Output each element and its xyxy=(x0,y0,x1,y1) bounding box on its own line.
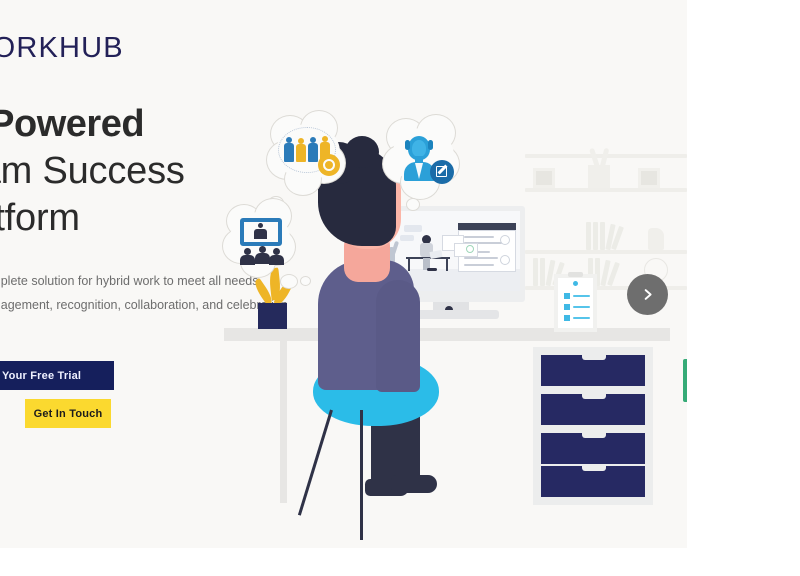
drawer xyxy=(541,466,645,497)
cta-group: Start Your Free Trial Book A Demo Get In… xyxy=(0,361,114,390)
person-hair-bun xyxy=(345,136,379,168)
drawer xyxy=(541,433,645,464)
brand-logo[interactable]: WORKHUB xyxy=(0,32,124,65)
plant-pot xyxy=(258,303,287,329)
person-arm xyxy=(376,280,420,392)
drawer xyxy=(541,355,645,386)
drawer xyxy=(541,394,645,425)
drawer-cabinet xyxy=(533,347,653,505)
chair-leg xyxy=(360,410,363,540)
chevron-right-icon xyxy=(640,287,655,302)
secondary-cta-row: Book A Demo Get In Touch xyxy=(0,399,111,428)
chair-leg xyxy=(298,410,333,516)
hero-illustration xyxy=(208,110,687,548)
free-trial-button[interactable]: Start Your Free Trial xyxy=(0,361,114,390)
get-in-touch-button[interactable]: Get In Touch xyxy=(25,399,111,428)
desk-leg xyxy=(280,341,287,503)
side-accent-tab[interactable] xyxy=(683,359,687,402)
screenshot-viewport: WORKHUB AI-Powered Team Success Platform… xyxy=(0,0,800,576)
hero-section: WORKHUB AI-Powered Team Success Platform… xyxy=(0,0,687,548)
carousel-next-button[interactable] xyxy=(627,274,668,315)
desk-surface xyxy=(224,328,670,341)
